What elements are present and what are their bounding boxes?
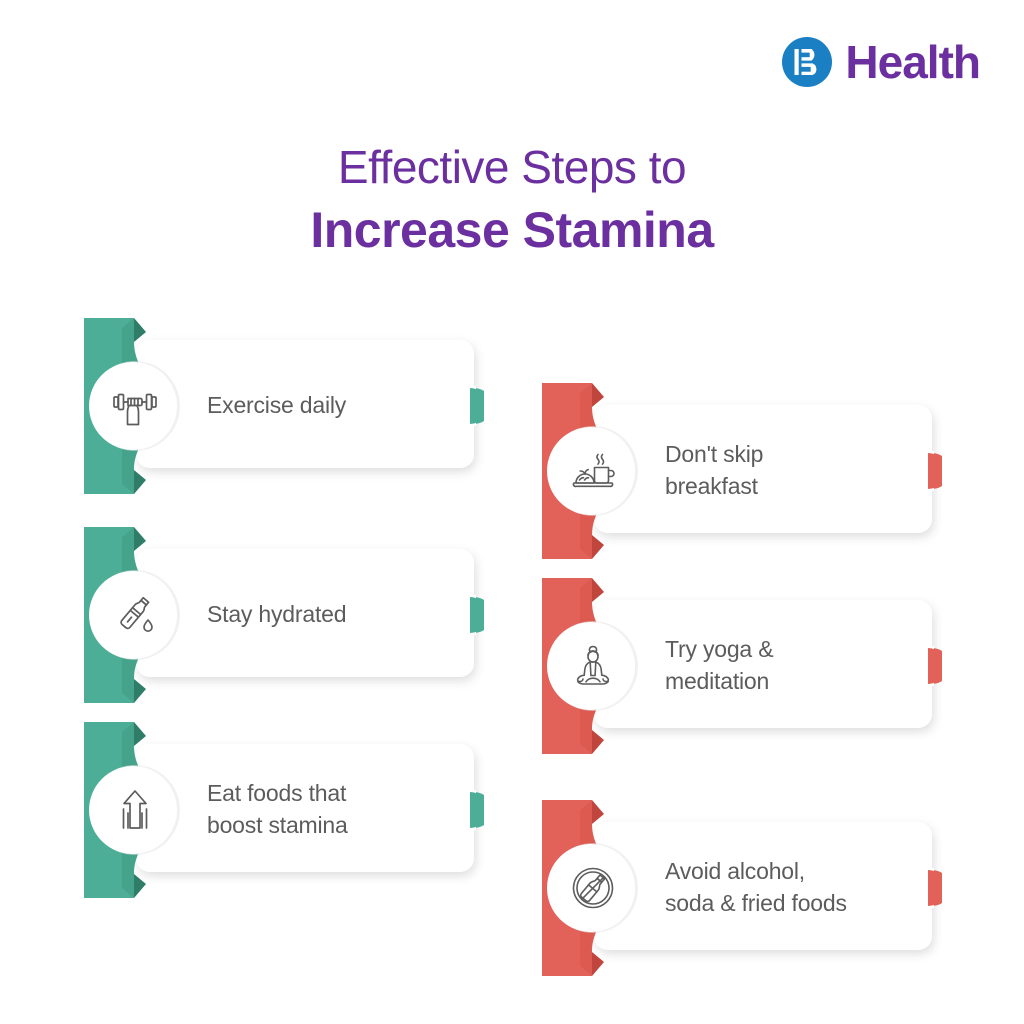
brand-wordmark: Health [845, 39, 980, 85]
step-card-stay-hydrated[interactable]: Stay hydrated [74, 527, 484, 703]
title-line-1: Effective Steps to [0, 140, 1024, 194]
page-title: Effective Steps to Increase Stamina [0, 140, 1024, 261]
bajaj-b-logo-icon [781, 36, 833, 88]
step-card-avoid-alcohol-soda-fried-foods[interactable]: Avoid alcohol, soda & fried foods [532, 800, 942, 976]
step-card-dont-skip-breakfast[interactable]: Don't skip breakfast [532, 383, 942, 559]
card-ribbon-shape [74, 527, 484, 703]
card-ribbon-shape [74, 318, 484, 494]
card-ribbon-shape [532, 578, 942, 754]
step-card-eat-foods-that-boost-stamina[interactable]: Eat foods that boost stamina [74, 722, 484, 898]
step-card-try-yoga-and-meditation[interactable]: Try yoga & meditation [532, 578, 942, 754]
brand-logo: Health [781, 36, 980, 88]
title-line-2: Increase Stamina [0, 200, 1024, 261]
card-ribbon-shape [74, 722, 484, 898]
step-card-exercise-daily[interactable]: Exercise daily [74, 318, 484, 494]
card-ribbon-shape [532, 800, 942, 976]
card-ribbon-shape [532, 383, 942, 559]
